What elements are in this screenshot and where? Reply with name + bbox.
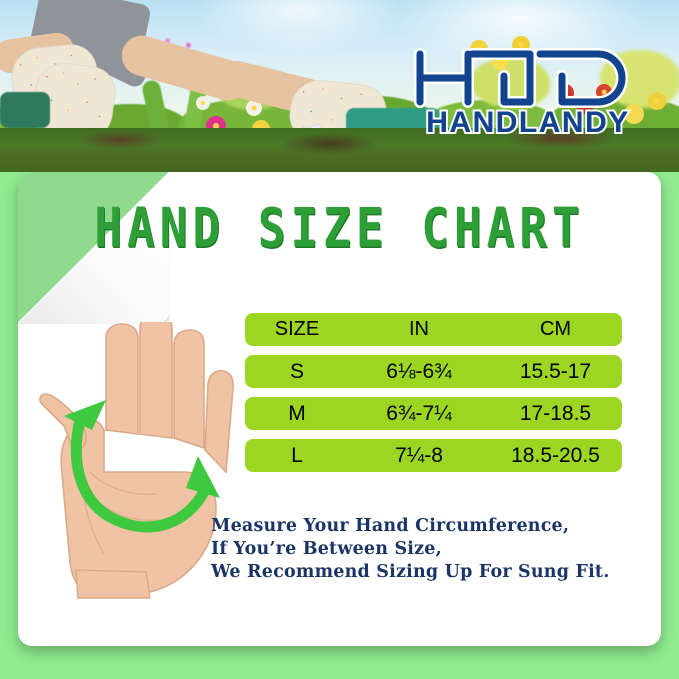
flower: [648, 92, 666, 110]
page-title: HAND SIZE CHART: [0, 196, 679, 260]
table-row: M 6¾-7¼ 17-18.5: [245, 397, 622, 430]
gardening-photo-banner: HANDLANDY HANDLANDY: [0, 0, 679, 172]
teal-cloth: [0, 92, 50, 128]
column-header-cm: CM: [489, 318, 622, 341]
cell-in: 7¼-8: [349, 444, 489, 468]
open-palm-hand-icon: [40, 322, 233, 598]
cell-cm: 15.5-17: [489, 360, 622, 384]
logo-monogram-fill: [420, 54, 622, 102]
note-line-2: If You’re Between Size,: [211, 538, 641, 561]
cell-size: L: [245, 444, 349, 468]
note-line-1: Measure Your Hand Circumference,: [211, 515, 641, 538]
table-header-row: SIZE IN CM: [245, 313, 622, 346]
table-row: S 6⅛-6¾ 15.5-17: [245, 355, 622, 388]
grass-foreground: [0, 142, 679, 172]
column-header-size: SIZE: [245, 318, 349, 341]
measurement-note: Measure Your Hand Circumference, If You’…: [211, 515, 641, 584]
table-row: L 7¼-8 18.5-20.5: [245, 439, 622, 472]
hand-size-chart-poster: HANDLANDY HANDLANDY HAND SIZE CHART: [0, 0, 679, 679]
flower: [196, 96, 210, 110]
cell-in: 6¾-7¼: [349, 402, 489, 426]
handlandy-logo: HANDLANDY HANDLANDY: [412, 36, 644, 140]
svg-text:HANDLANDY: HANDLANDY: [426, 106, 630, 139]
size-table: SIZE IN CM S 6⅛-6¾ 15.5-17 M 6¾-7¼ 17-18…: [245, 313, 622, 481]
column-header-in: IN: [349, 318, 489, 341]
cell-in: 6⅛-6¾: [349, 360, 489, 384]
cell-cm: 18.5-20.5: [489, 444, 622, 468]
cell-cm: 17-18.5: [489, 402, 622, 426]
cell-size: M: [245, 402, 349, 426]
note-line-3: We Recommend Sizing Up For Sung Fit.: [211, 561, 641, 584]
cell-size: S: [245, 360, 349, 384]
hand-illustration: [34, 322, 234, 602]
